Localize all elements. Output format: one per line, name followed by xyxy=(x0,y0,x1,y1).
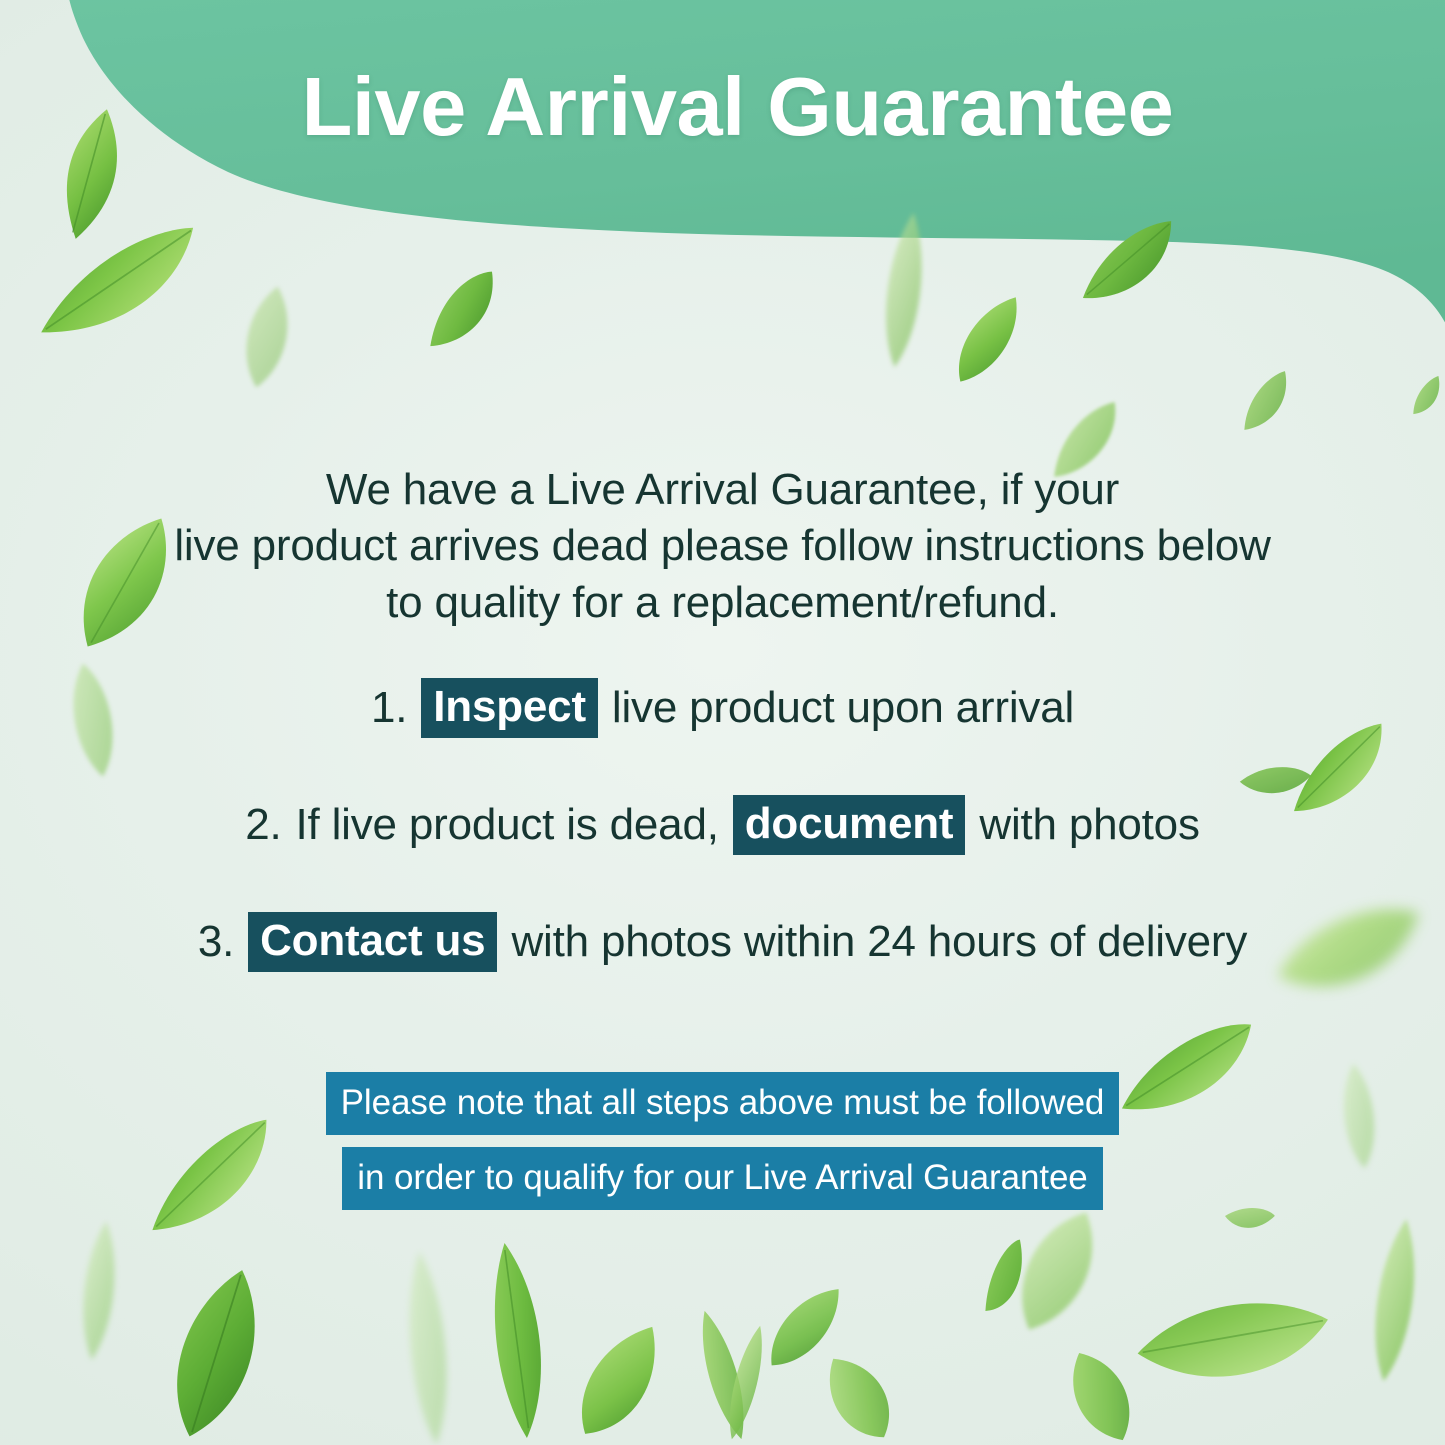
step-highlight-inspect: Inspect xyxy=(421,678,598,738)
step-highlight-contact-us: Contact us xyxy=(248,912,497,972)
intro-line-2: live product arrives dead please follow … xyxy=(0,518,1445,574)
step-item-3: 3. Contact us with photos within 24 hour… xyxy=(0,912,1445,972)
step-lead-text: If live product is dead, xyxy=(296,803,719,847)
intro-line-1: We have a Live Arrival Guarantee, if you… xyxy=(0,462,1445,518)
footnote-line-1: Please note that all steps above must be… xyxy=(326,1072,1120,1135)
intro-line-3: to quality for a replacement/refund. xyxy=(0,575,1445,631)
step-item-1: 1. Inspect live product upon arrival xyxy=(0,678,1445,738)
step-number: 1. xyxy=(371,686,407,730)
step-text: live product upon arrival xyxy=(612,686,1074,730)
live-arrival-guarantee-poster: Live Arrival Guarantee xyxy=(0,0,1445,1445)
step-number: 3. xyxy=(198,920,234,964)
step-text: with photos xyxy=(979,803,1199,847)
footnote-line-2: in order to qualify for our Live Arrival… xyxy=(342,1147,1102,1210)
step-text: with photos within 24 hours of delivery xyxy=(511,920,1247,964)
steps-list: 1. Inspect live product upon arrival 2. … xyxy=(0,678,1445,1029)
intro-paragraph: We have a Live Arrival Guarantee, if you… xyxy=(0,462,1445,631)
footnote-group: Please note that all steps above must be… xyxy=(0,1072,1445,1210)
step-highlight-document: document xyxy=(733,795,966,855)
step-item-2: 2. If live product is dead, document wit… xyxy=(0,795,1445,855)
poster-content: We have a Live Arrival Guarantee, if you… xyxy=(0,0,1445,1445)
step-number: 2. xyxy=(245,803,281,847)
